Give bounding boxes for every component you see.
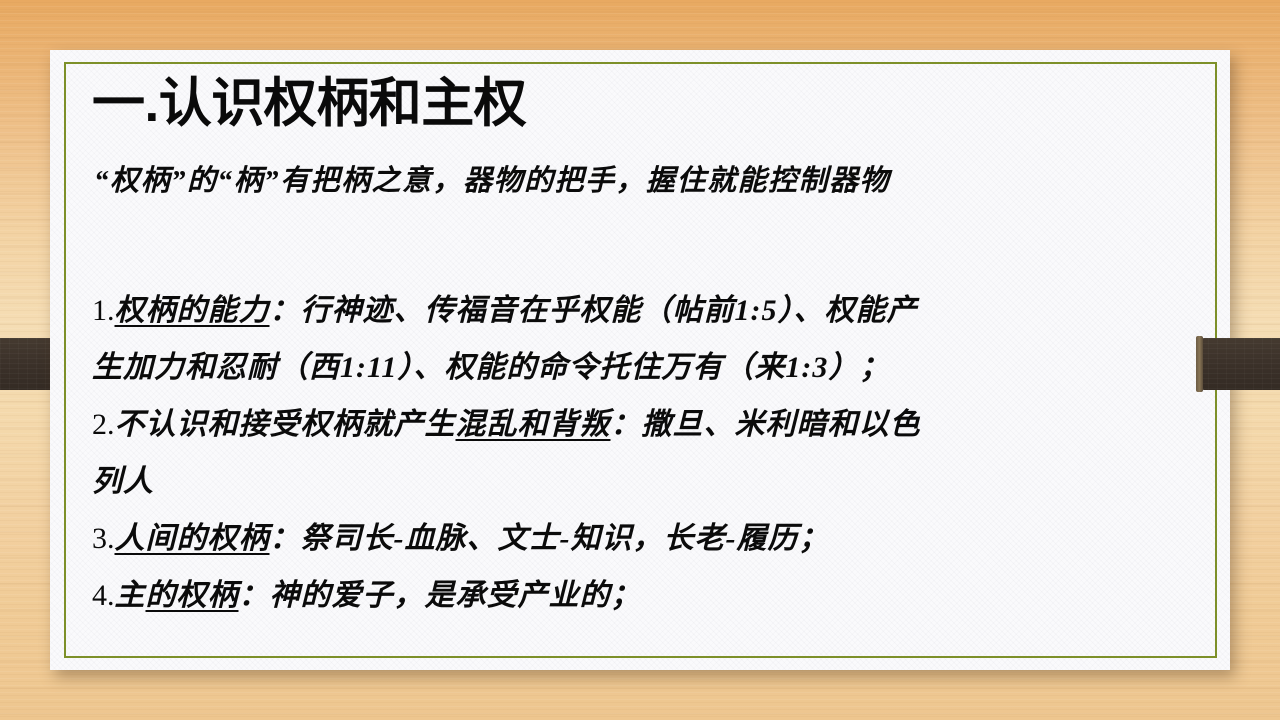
body-line-5: 3.人间的权柄：祭司长-血脉、文士-知识，长老-履历； bbox=[92, 510, 1212, 567]
slide-canvas: 一.认识权柄和主权 “权柄”的“柄”有把柄之意，器物的把手，握住就能控制器物 1… bbox=[0, 0, 1280, 720]
list-number-4: 4. bbox=[92, 579, 115, 612]
body-text-5: ：祭司长-血脉、文士-知识，长老-履历； bbox=[270, 522, 830, 555]
slide-subtitle: “权柄”的“柄”有把柄之意，器物的把手，握住就能控制器物 bbox=[94, 157, 890, 199]
body-list: 1.权柄的能力：行神迹、传福音在乎权能（帖前1:5）、权能产 生加力和忍耐（西1… bbox=[92, 282, 1212, 624]
list-number-2: 2. bbox=[92, 408, 115, 441]
emphasis-6: 的权柄 bbox=[146, 579, 239, 612]
list-number-3: 3. bbox=[92, 522, 115, 555]
list-number-1: 1. bbox=[92, 294, 115, 327]
page-title: 一.认识权柄和主权 bbox=[92, 76, 526, 132]
body-prefix-6: 主 bbox=[115, 579, 146, 612]
emphasis-5: 人间的权柄 bbox=[115, 522, 270, 555]
body-line-2: 生加力和忍耐（西1:11）、权能的命令托住万有（来1:3）； bbox=[92, 339, 1212, 396]
body-text-3: ：撒旦、米利暗和以色 bbox=[611, 408, 921, 441]
slide-content: 一.认识权柄和主权 “权柄”的“柄”有把柄之意，器物的把手，握住就能控制器物 1… bbox=[0, 0, 1280, 720]
body-text-6: ：神的爱子，是承受产业的； bbox=[239, 579, 642, 612]
body-line-3: 2.不认识和接受权柄就产生混乱和背叛：撒旦、米利暗和以色 bbox=[92, 396, 1212, 453]
body-text-4: 列人 bbox=[92, 465, 154, 498]
body-line-1: 1.权柄的能力：行神迹、传福音在乎权能（帖前1:5）、权能产 bbox=[92, 282, 1212, 339]
body-text-1: ：行神迹、传福音在乎权能（帖前1:5）、权能产 bbox=[270, 294, 918, 327]
body-line-6: 4.主的权柄：神的爱子，是承受产业的； bbox=[92, 567, 1212, 624]
body-text-2: 生加力和忍耐（西1:11）、权能的命令托住万有（来1:3）； bbox=[92, 351, 890, 384]
body-prefix-3: 不认识和接受权柄就产生 bbox=[115, 408, 456, 441]
emphasis-3: 混乱和背叛 bbox=[456, 408, 611, 441]
body-line-4: 列人 bbox=[92, 453, 1212, 510]
emphasis-1: 权柄的能力 bbox=[115, 294, 270, 327]
